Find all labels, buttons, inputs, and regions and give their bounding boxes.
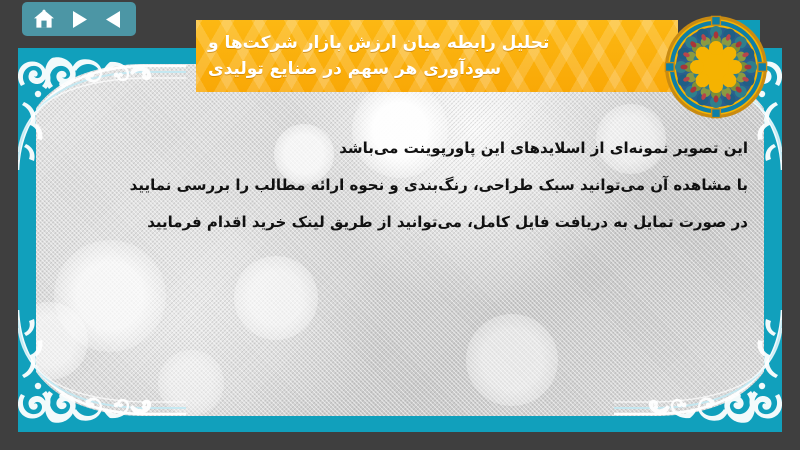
slide-body-text: این تصویر نمونه‌ای از اسلایدهای این پاور…	[36, 130, 764, 241]
slide-title-line-1: تحلیل رابطه میان ارزش بازار شرکت‌ها و	[208, 30, 549, 56]
previous-slide-button[interactable]	[99, 6, 128, 32]
triangle-right-icon	[71, 10, 88, 29]
navigation-button-group	[22, 2, 136, 36]
body-line-1: این تصویر نمونه‌ای از اسلایدهای این پاور…	[60, 130, 748, 167]
bokeh-circle	[466, 314, 558, 406]
triangle-left-icon	[105, 10, 122, 29]
next-slide-button[interactable]	[65, 6, 94, 32]
title-arrow-tab	[678, 20, 760, 92]
bokeh-circle	[234, 256, 318, 340]
slide-title-ribbon: تحلیل رابطه میان ارزش بازار شرکت‌ها و سو…	[196, 20, 760, 92]
home-icon	[33, 9, 55, 29]
bokeh-circle	[36, 302, 88, 380]
slide-title-bar: تحلیل رابطه میان ارزش بازار شرکت‌ها و سو…	[196, 20, 678, 92]
body-line-2: با مشاهده آن می‌توانید سبک طراحی، رنگ‌بن…	[60, 167, 748, 204]
bokeh-circle	[54, 240, 166, 352]
top-toolbar: تحلیل رابطه میان ارزش بازار شرکت‌ها و سو…	[0, 0, 800, 48]
slide-stage: تحلیل رابطه میان ارزش بازار شرکت‌ها و سو…	[0, 0, 800, 450]
slide-title-line-2: سودآوری هر سهم در صنایع تولیدی	[208, 56, 501, 82]
bokeh-circle	[158, 350, 224, 416]
body-line-3: در صورت تمایل به دریافت فایل کامل، می‌تو…	[60, 204, 748, 241]
home-button[interactable]	[30, 6, 59, 32]
